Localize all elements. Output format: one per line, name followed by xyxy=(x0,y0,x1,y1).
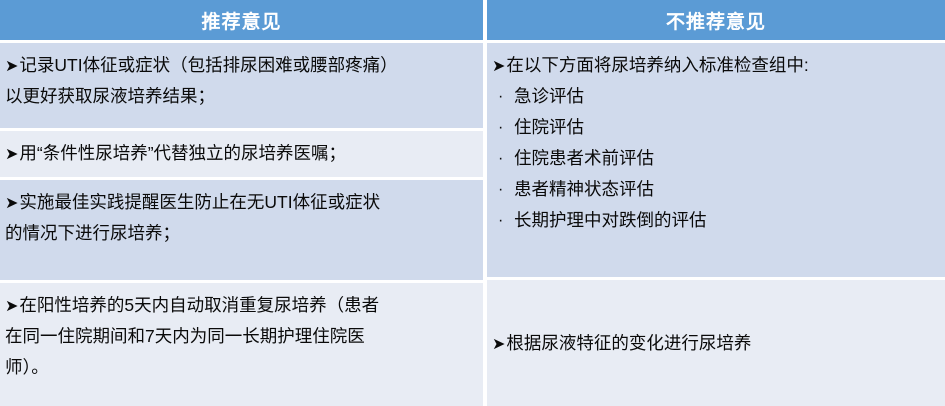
column-header-recommended-label: 推荐意见 xyxy=(201,7,281,34)
recommended-item-4-line-2: 在同一住院期间和7天内为同一长期护理住院医 xyxy=(5,321,477,352)
table-header-row: 推荐意见 不推荐意见 xyxy=(0,0,945,40)
arrow-marker-icon: ➤ xyxy=(5,193,18,212)
bullet-dot-icon: · xyxy=(498,174,503,205)
recommended-item-1: ➤记录UTI体征或症状（包括排尿困难或腰部疼痛） 以更好获取尿液培养结果； xyxy=(0,43,483,128)
recommended-column: ➤记录UTI体征或症状（包括排尿困难或腰部疼痛） 以更好获取尿液培养结果； ➤用… xyxy=(0,43,483,406)
recommended-item-2: ➤用“条件性尿培养”代替独立的尿培养医嘱； xyxy=(0,131,483,177)
table-body: ➤记录UTI体征或症状（包括排尿困难或腰部疼痛） 以更好获取尿液培养结果； ➤用… xyxy=(0,40,945,406)
arrow-marker-icon: ➤ xyxy=(5,296,18,315)
recommendations-table: 推荐意见 不推荐意见 ➤记录UTI体征或症状（包括排尿困难或腰部疼痛） 以更好获… xyxy=(0,0,945,406)
column-header-not-recommended: 不推荐意见 xyxy=(487,0,945,40)
list-item: ·长期护理中对跌倒的评估 xyxy=(492,205,939,236)
bullet-dot-icon: · xyxy=(498,112,503,143)
recommended-item-3: ➤实施最佳实践提醒医生防止在无UTI体征或症状 的情况下进行尿培养； xyxy=(0,180,483,280)
bullet-dot-icon: · xyxy=(498,143,503,174)
arrow-marker-icon: ➤ xyxy=(5,56,18,75)
arrow-marker-icon: ➤ xyxy=(492,56,505,75)
recommended-item-3-line-2: 的情况下进行尿培养； xyxy=(5,218,477,249)
recommended-item-3-line-1: ➤实施最佳实践提醒医生防止在无UTI体征或症状 xyxy=(5,187,477,218)
arrow-marker-icon: ➤ xyxy=(492,334,505,353)
not-recommended-bullet-list: ·急诊评估 ·住院评估 ·住院患者术前评估 ·患者精神状态评估 ·长期护理中对跌… xyxy=(492,81,939,236)
bullet-dot-icon: · xyxy=(498,205,503,236)
not-recommended-column: ➤在以下方面将尿培养纳入标准检查组中: ·急诊评估 ·住院评估 ·住院患者术前评… xyxy=(487,43,945,406)
recommended-item-4-line-1: ➤在阳性培养的5天内自动取消重复尿培养（患者 xyxy=(5,290,477,321)
not-recommended-item-2: ➤根据尿液特征的变化进行尿培养 xyxy=(487,280,945,406)
recommended-item-1-line-2: 以更好获取尿液培养结果； xyxy=(5,81,477,112)
recommended-item-2-line-1: ➤用“条件性尿培养”代替独立的尿培养医嘱； xyxy=(5,138,477,169)
not-recommended-item-1: ➤在以下方面将尿培养纳入标准检查组中: ·急诊评估 ·住院评估 ·住院患者术前评… xyxy=(487,43,945,277)
not-recommended-item-1-line-1: ➤在以下方面将尿培养纳入标准检查组中: xyxy=(492,50,939,81)
recommended-item-1-line-1: ➤记录UTI体征或症状（包括排尿困难或腰部疼痛） xyxy=(5,50,477,81)
list-item: ·患者精神状态评估 xyxy=(492,174,939,205)
recommended-item-4-line-3: 师）。 xyxy=(5,352,477,383)
not-recommended-item-2-line-1: ➤根据尿液特征的变化进行尿培养 xyxy=(492,328,939,359)
bullet-dot-icon: · xyxy=(498,81,503,112)
recommended-item-4: ➤在阳性培养的5天内自动取消重复尿培养（患者 在同一住院期间和7天内为同一长期护… xyxy=(0,283,483,406)
column-header-not-recommended-label: 不推荐意见 xyxy=(666,7,766,34)
column-header-recommended: 推荐意见 xyxy=(0,0,483,40)
list-item: ·急诊评估 xyxy=(492,81,939,112)
arrow-marker-icon: ➤ xyxy=(5,144,18,163)
list-item: ·住院患者术前评估 xyxy=(492,143,939,174)
list-item: ·住院评估 xyxy=(492,112,939,143)
